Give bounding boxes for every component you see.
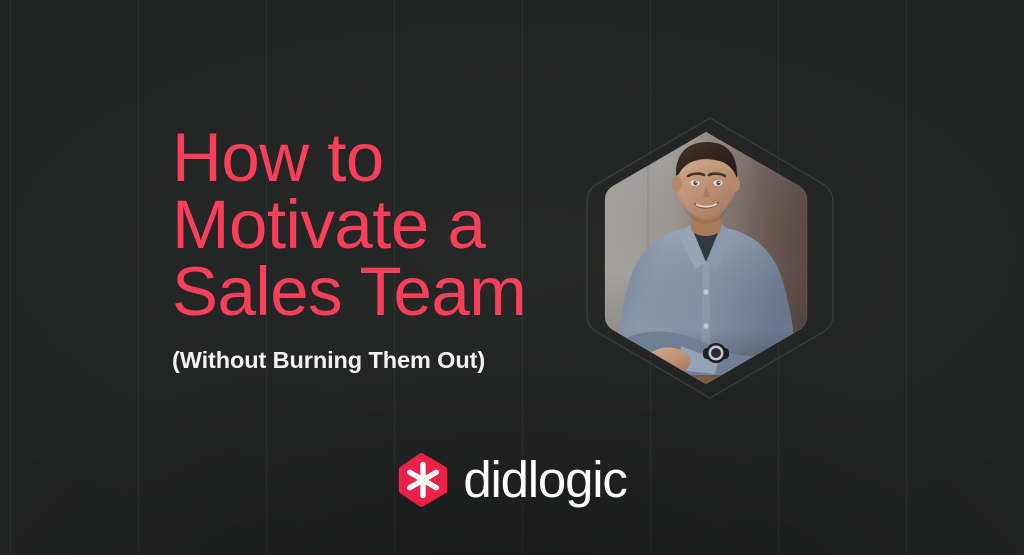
headline-block: How to Motivate a Sales Team (Without Bu… <box>172 124 602 374</box>
headline-line-1: How to <box>172 124 602 191</box>
portrait <box>575 108 845 408</box>
subtitle: (Without Burning Them Out) <box>172 325 602 374</box>
social-card: How to Motivate a Sales Team (Without Bu… <box>0 0 1024 555</box>
didlogic-hexagon-asterisk-icon <box>397 452 449 508</box>
headline-line-2: Motivate a <box>172 191 602 258</box>
page-title: How to Motivate a Sales Team <box>172 124 602 325</box>
brand-wordmark: didlogic <box>463 454 626 506</box>
brand-logo[interactable]: didlogic <box>0 452 1024 508</box>
headline-line-3: Sales Team <box>172 258 602 325</box>
portrait-photo <box>595 130 817 386</box>
